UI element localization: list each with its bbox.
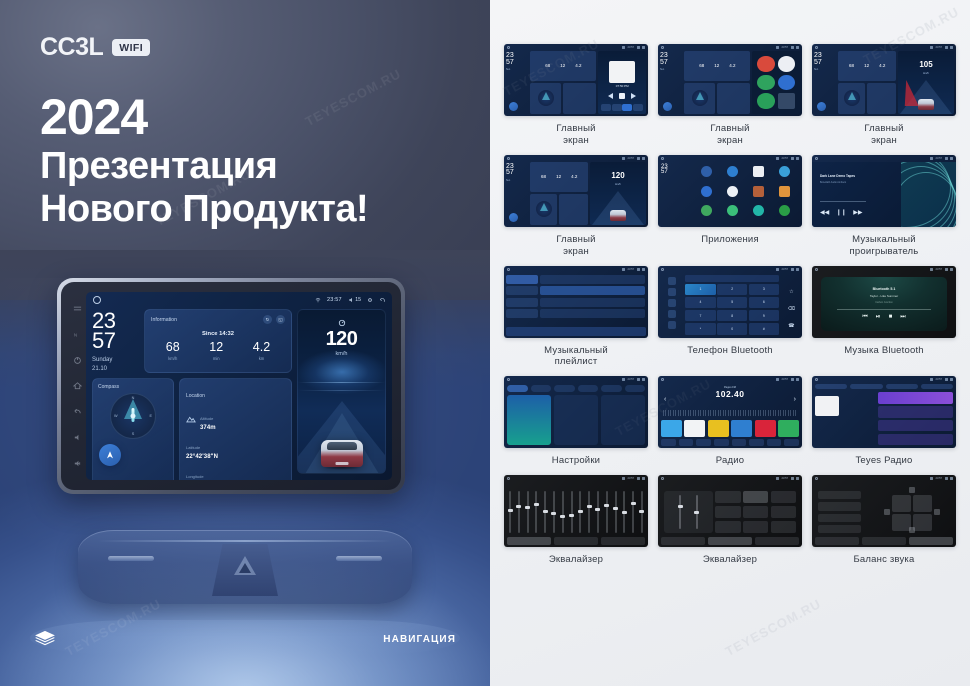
- car-plate: [335, 462, 348, 465]
- back-arrow-icon[interactable]: [379, 297, 385, 303]
- refresh-icon[interactable]: ↻: [263, 315, 272, 324]
- pause-icon[interactable]: ❙❙: [836, 209, 846, 216]
- longitude-label: Longitude: [186, 474, 204, 479]
- radio-tab[interactable]: [815, 384, 847, 389]
- screens-gallery: TEYESCOM.RU TEYESCOM.RU TEYESCOM.RU TEYE…: [490, 0, 970, 686]
- gear-icon[interactable]: [367, 297, 373, 303]
- next-icon[interactable]: ▶▶: [853, 209, 862, 216]
- gallery-caption: Настройки: [552, 455, 600, 467]
- compass-hub: [131, 413, 136, 418]
- phone-actions[interactable]: ☆ ⌫ ☎: [783, 284, 800, 335]
- latitude-value: 22°42'38"N: [186, 454, 285, 460]
- back-key-icon[interactable]: [73, 407, 82, 416]
- balance-option[interactable]: [818, 491, 861, 499]
- volume-up-key-icon[interactable]: [73, 459, 82, 468]
- speed-unit: km/h: [298, 351, 385, 357]
- gallery-caption: Телефон Bluetooth: [687, 345, 773, 357]
- app-icon[interactable]: [753, 166, 764, 177]
- information-card[interactable]: Information ↻ ◱ Since 14:32: [144, 309, 292, 373]
- gallery-caption: Музыка Bluetooth: [844, 345, 924, 357]
- gallery-item[interactable]: 23:57 Bluetooth 5.1 Taylor - Like Summer…: [812, 266, 956, 369]
- settings-tab[interactable]: [554, 385, 575, 392]
- teyes-radio-now-playing: [815, 392, 873, 445]
- head-unit-frame: N: [61, 282, 401, 490]
- compass-mark-s: S: [132, 432, 135, 436]
- head-unit-screen[interactable]: 23:57 15: [86, 292, 392, 480]
- caption-line-1: Главный: [556, 234, 595, 246]
- next-icon[interactable]: ⏭: [900, 314, 905, 321]
- gallery-caption: Главный экран: [556, 123, 595, 147]
- dial-key[interactable]: 6: [749, 297, 779, 309]
- gallery-item[interactable]: 23:57 Настр: [504, 376, 648, 467]
- hotspot-setting-card[interactable]: [554, 395, 598, 445]
- play-pause-icon[interactable]: ⏯: [876, 314, 881, 321]
- dashboard-vent: [78, 530, 412, 604]
- search-icon[interactable]: [668, 299, 676, 307]
- gallery-caption: Баланс звука: [854, 554, 915, 566]
- toolbar-key[interactable]: [784, 439, 799, 446]
- contacts-icon[interactable]: [668, 288, 676, 296]
- playlist-sidebar[interactable]: [506, 275, 538, 335]
- radio-presets[interactable]: [661, 420, 799, 437]
- dial-key[interactable]: 1: [685, 284, 715, 296]
- radio-tab[interactable]: [921, 384, 953, 389]
- album-art: [815, 396, 839, 416]
- volume-value: 15: [355, 297, 361, 303]
- gallery-item[interactable]: 23:57 2357Sun 68124.2 120 km/h: [504, 155, 648, 258]
- playlist-tab[interactable]: [506, 309, 538, 318]
- head-unit-bezel: N: [57, 278, 405, 494]
- app-icon[interactable]: [779, 205, 790, 216]
- stat-value: 68: [166, 341, 180, 354]
- preset-key[interactable]: [715, 491, 740, 503]
- app-icon[interactable]: [727, 166, 738, 177]
- toolbar-key[interactable]: [507, 537, 551, 545]
- balance-down-icon[interactable]: [909, 527, 915, 533]
- hardware-key-strip[interactable]: N: [69, 296, 85, 476]
- toolbar-key[interactable]: [708, 537, 752, 545]
- app-icon-grid[interactable]: [695, 164, 796, 219]
- gallery-caption: Главный экран: [556, 234, 595, 258]
- playlist-row[interactable]: [540, 298, 645, 307]
- radio-preset[interactable]: [684, 420, 705, 437]
- dial-key[interactable]: 5: [717, 297, 747, 309]
- car-window: [327, 442, 357, 450]
- prev-icon[interactable]: ⏮: [862, 314, 867, 321]
- thumbnail-home-speed[interactable]: 23:57 2357Sun 68124.2 105 km/h: [812, 44, 956, 116]
- preset-key[interactable]: [715, 506, 740, 518]
- menu-key-icon[interactable]: [73, 304, 82, 313]
- radio-tuning-scale[interactable]: [663, 410, 797, 416]
- eq-slider[interactable]: [588, 491, 590, 533]
- call-icon[interactable]: ☎: [788, 323, 794, 329]
- stat-duration: 12 min: [209, 341, 223, 361]
- settings-tab[interactable]: [578, 385, 599, 392]
- dial-key[interactable]: 8: [717, 310, 747, 322]
- stat-unit: min: [209, 356, 223, 361]
- speaker-quadrant[interactable]: [913, 495, 932, 512]
- navigation-label: НАВИГАЦИЯ: [383, 634, 456, 645]
- volume-icon: [348, 297, 354, 303]
- status-volume[interactable]: 15: [348, 297, 361, 303]
- toolbar-key[interactable]: [732, 439, 747, 446]
- vent-slot-left: [108, 556, 154, 561]
- thumbnail-music-player[interactable]: 23:57 Dark Lane Demo Tapes Bonefaith Aud…: [812, 155, 956, 227]
- album-art: [609, 61, 635, 83]
- dial-key[interactable]: 4: [685, 297, 715, 309]
- bt-progress-bar[interactable]: [837, 309, 930, 310]
- settings-tab[interactable]: [625, 385, 646, 392]
- music-visualizer: [901, 162, 956, 227]
- radio-preset[interactable]: [731, 420, 752, 437]
- eq-slider[interactable]: [606, 491, 608, 533]
- caption-line-1: Музыка Bluetooth: [844, 345, 924, 357]
- caption-line-1: Эквалайзер: [549, 554, 603, 566]
- information-title: Information: [151, 317, 177, 323]
- gallery-caption: Музыкальный проигрыватель: [850, 234, 919, 258]
- thumbnail-home-apps[interactable]: 23:57 2357Sun 68124.2: [658, 44, 802, 116]
- toolbar-key[interactable]: [862, 537, 906, 545]
- hazard-triangle-icon[interactable]: [234, 556, 256, 575]
- gallery-caption: Главный экран: [864, 123, 903, 147]
- toolbar-key[interactable]: [909, 537, 953, 545]
- eq-slider[interactable]: [518, 491, 520, 533]
- hero-footer: НАВИГАЦИЯ: [0, 608, 490, 686]
- since-label: Since 14:32: [151, 331, 285, 337]
- gallery-item[interactable]: 23:57 Радио FM 102.40 ‹ ›: [658, 376, 802, 467]
- wifi-icon: [315, 297, 321, 303]
- thumbnail-home-music[interactable]: 23:57 2357Sun 68124.2 07:50 PM: [504, 44, 648, 116]
- toolbar-key[interactable]: [767, 439, 782, 446]
- app-icon[interactable]: [779, 166, 790, 177]
- toolbar-key[interactable]: [679, 439, 694, 446]
- eq-slider[interactable]: [544, 491, 546, 533]
- settings-cards[interactable]: [507, 395, 645, 445]
- prev-icon[interactable]: ◀◀: [820, 209, 829, 216]
- station-row[interactable]: [878, 392, 953, 403]
- call-log-icon[interactable]: [668, 310, 676, 318]
- settings-icon[interactable]: [668, 321, 676, 329]
- speaker-quadrant[interactable]: [913, 514, 932, 531]
- app-icon[interactable]: [753, 186, 764, 197]
- app-icon[interactable]: [779, 186, 790, 197]
- radio-toolbar[interactable]: [661, 439, 799, 446]
- compass-title: Compass: [98, 384, 168, 390]
- settings-tab[interactable]: [507, 385, 528, 392]
- eq-slider[interactable]: [509, 491, 511, 533]
- playlist-player-bar[interactable]: [506, 327, 646, 336]
- stat-value: 4.2: [253, 341, 270, 354]
- gallery-caption: Музыкальный плейлист: [544, 345, 608, 369]
- radio-tab[interactable]: [886, 384, 918, 389]
- balance-up-icon[interactable]: [909, 487, 915, 493]
- bt-song-title: Taylor - Like Summer: [870, 294, 898, 298]
- preset-key[interactable]: [771, 491, 796, 503]
- music-artist: Bonefaith Audio Ambient: [820, 181, 846, 184]
- playlist-rows[interactable]: [540, 275, 645, 326]
- stat-distance: 4.2 km: [253, 341, 270, 361]
- gallery-item[interactable]: 23:57: [658, 475, 802, 566]
- dial-key[interactable]: *: [685, 323, 715, 335]
- caption-line-1: Баланс звука: [854, 554, 915, 566]
- radio-preset[interactable]: [755, 420, 776, 437]
- gallery-item[interactable]: 23:57 2357Sun 68124.2: [658, 44, 802, 147]
- thumbnail-bt-phone[interactable]: 23:57 123 456 789 *0#: [658, 266, 802, 338]
- gallery-item[interactable]: 23:57 Dark Lane Demo Tapes Bonefaith Aud…: [812, 155, 956, 258]
- radio-frequency: 102.40: [658, 389, 802, 399]
- home-key-icon[interactable]: [73, 381, 82, 390]
- eq-slider[interactable]: [535, 491, 537, 533]
- gallery-item[interactable]: 23:57 Музыкал: [504, 266, 648, 369]
- power-key-icon[interactable]: [73, 356, 82, 365]
- thumbnail-apps[interactable]: 23:57 2357: [658, 155, 802, 227]
- app-icon[interactable]: [701, 205, 712, 216]
- dial-key[interactable]: #: [749, 323, 779, 335]
- eq-slider[interactable]: [641, 491, 643, 533]
- toolbar-key[interactable]: [755, 537, 799, 545]
- thumbnail-bt-music[interactable]: 23:57 Bluetooth 5.1 Taylor - Like Summer…: [812, 266, 956, 338]
- gallery-caption: Приложения: [701, 234, 759, 246]
- balance-option[interactable]: [818, 525, 861, 533]
- equalizer-toolbar[interactable]: [661, 537, 799, 545]
- volume-down-key-icon[interactable]: [73, 433, 82, 442]
- gallery-caption: Главный экран: [710, 123, 749, 147]
- svg-text:N: N: [73, 332, 76, 337]
- caption-line-1: Главный: [556, 123, 595, 135]
- navigation-panel[interactable]: 120 km/h: [297, 309, 386, 474]
- caption-line-1: Телефон Bluetooth: [687, 345, 773, 357]
- balance-toolbar[interactable]: [815, 537, 953, 545]
- compass-mark-e: E: [149, 414, 152, 418]
- eq-slider[interactable]: [553, 491, 555, 533]
- navigation-arrow-icon[interactable]: [99, 444, 121, 466]
- hero-panel: TEYESCOM.RU TEYESCOM.RU TEYESCOM.RU CC3L…: [0, 0, 490, 686]
- caption-line-1: Настройки: [552, 455, 600, 467]
- preset-key[interactable]: [743, 506, 768, 518]
- caption-line-2: экран: [710, 135, 749, 147]
- clock-weekday: Sunday: [92, 356, 138, 364]
- clock-date: 21.10: [92, 365, 138, 373]
- preset-key[interactable]: [743, 491, 768, 503]
- thumb-music-time: 07:50 PM: [598, 84, 646, 88]
- thumbnail-teyes-radio[interactable]: 23:57: [812, 376, 956, 448]
- altitude-value: 374m: [200, 425, 216, 431]
- thumbnail-equalizer-presets[interactable]: 23:57: [658, 475, 802, 547]
- thumbnail-radio[interactable]: 23:57 Радио FM 102.40 ‹ ›: [658, 376, 802, 448]
- stat-unit: km/h: [166, 356, 180, 361]
- bt-artist: Carbon Junction: [875, 301, 892, 304]
- preset-key[interactable]: [743, 521, 768, 533]
- balance-right-icon[interactable]: [934, 509, 940, 515]
- phone-number-field[interactable]: [685, 275, 779, 282]
- caption-line-2: проигрыватель: [850, 246, 919, 258]
- road-horizon-line: [298, 382, 385, 383]
- teyes-radio-stations[interactable]: [878, 392, 953, 445]
- app-icon[interactable]: [727, 186, 738, 197]
- vent-highlight: [98, 540, 392, 542]
- radio-preset[interactable]: [661, 420, 682, 437]
- status-bar: 23:57 15: [86, 292, 392, 307]
- toolbar-key[interactable]: [749, 439, 764, 446]
- radio-preset[interactable]: [708, 420, 729, 437]
- balance-option[interactable]: [818, 514, 861, 522]
- location-title: Location: [186, 393, 205, 399]
- caption-line-2: экран: [864, 135, 903, 147]
- settings-tab[interactable]: [601, 385, 622, 392]
- nav-key-icon[interactable]: N: [73, 330, 82, 339]
- settings-tabs[interactable]: [507, 385, 645, 392]
- speaker-quadrant[interactable]: [892, 495, 911, 512]
- teyes-radio-tabs[interactable]: [815, 384, 953, 389]
- stat-avg-speed: 68 km/h: [166, 341, 180, 361]
- equalizer-toolbar[interactable]: [507, 537, 645, 545]
- toolbar-key[interactable]: [661, 439, 676, 446]
- speed-value: 120: [298, 329, 385, 349]
- phone-sidebar[interactable]: [660, 275, 683, 335]
- bass-treble-sliders[interactable]: [664, 491, 713, 533]
- caption-line-1: Teyes Радио: [855, 455, 912, 467]
- toolbar-key[interactable]: [815, 537, 859, 545]
- page-title: 2024 Презентация Нового Продукта!: [40, 92, 368, 230]
- radio-tab[interactable]: [850, 384, 882, 389]
- dialpad[interactable]: 123 456 789 *0#: [685, 284, 779, 335]
- eq-slider[interactable]: [597, 491, 599, 533]
- watermark: TEYESCOM.RU: [723, 596, 824, 659]
- toolbar-key[interactable]: [696, 439, 711, 446]
- thumbnail-home-nav[interactable]: 23:57 2357Sun 68124.2 120 km/h: [504, 155, 648, 227]
- status-clock: 23:57: [327, 297, 342, 303]
- app-icon[interactable]: [701, 186, 712, 197]
- eq-slider[interactable]: [696, 495, 698, 529]
- caption-line-1: Музыкальный: [544, 345, 608, 357]
- toolbar-key[interactable]: [661, 537, 705, 545]
- gallery-item[interactable]: 23:57 Teyes Рад: [812, 376, 956, 467]
- thumbnail-settings[interactable]: 23:57: [504, 376, 648, 448]
- thumbnail-equalizer-bars[interactable]: 23:57: [504, 475, 648, 547]
- preset-key[interactable]: [715, 521, 740, 533]
- station-row[interactable]: [878, 434, 953, 445]
- home-screen-body: 23 57 Sunday 21.10 Information: [92, 309, 386, 474]
- gallery-caption: Эквалайзер: [549, 554, 603, 566]
- toolbar-key[interactable]: [601, 537, 645, 545]
- eq-slider[interactable]: [579, 491, 581, 533]
- gallery-item[interactable]: 23:57 2357Sun 68124.2 105 km/h: [812, 44, 956, 147]
- favorite-icon[interactable]: ☆: [789, 289, 793, 295]
- eq-slider[interactable]: [623, 491, 625, 533]
- playlist-row[interactable]: [540, 286, 645, 295]
- station-row[interactable]: [878, 420, 953, 431]
- station-row[interactable]: [878, 406, 953, 417]
- compass-mark-w: W: [114, 414, 118, 418]
- preset-key[interactable]: [771, 521, 796, 533]
- layers-icon: [34, 630, 56, 648]
- eq-slider[interactable]: [679, 495, 681, 529]
- dial-key[interactable]: 9: [749, 310, 779, 322]
- clock-widget[interactable]: 23 57 Sunday 21.10: [92, 309, 138, 373]
- thumbnail-sound-balance[interactable]: 23:57: [812, 475, 956, 547]
- thumbnail-playlist[interactable]: 23:57: [504, 266, 648, 338]
- headline-year: 2024: [40, 92, 368, 143]
- next-station-icon[interactable]: ›: [794, 396, 796, 403]
- home-icon[interactable]: [93, 296, 101, 304]
- dial-key[interactable]: 2: [717, 284, 747, 296]
- dial-key[interactable]: 0: [717, 323, 747, 335]
- gallery-caption: Teyes Радио: [855, 455, 912, 467]
- preset-key[interactable]: [771, 506, 796, 518]
- gallery-item[interactable]: 23:57: [504, 475, 648, 566]
- balance-options[interactable]: [818, 491, 861, 533]
- expand-icon[interactable]: ◱: [276, 315, 285, 324]
- preset-grid[interactable]: [715, 491, 796, 533]
- compass-dial: N E S W: [110, 393, 156, 439]
- eq-slider[interactable]: [632, 491, 634, 533]
- playlist-tab[interactable]: [506, 298, 538, 307]
- clock-minutes: 57: [92, 331, 138, 351]
- gallery-item[interactable]: 23:57: [812, 475, 956, 566]
- gallery-grid: 23:57 2357Sun 68124.2 07:50 PM: [504, 44, 956, 566]
- mountain-icon: [186, 415, 196, 423]
- location-card[interactable]: Location Altitude 374m: [179, 378, 292, 480]
- dial-key[interactable]: 7: [685, 310, 715, 322]
- backspace-icon[interactable]: ⌫: [788, 306, 795, 312]
- app-icon[interactable]: [701, 166, 712, 177]
- wifi-badge: WIFI: [112, 39, 150, 56]
- thumb-clock-minutes: 57: [506, 60, 528, 67]
- toolbar-key[interactable]: [554, 537, 598, 545]
- stop-icon[interactable]: ■: [889, 314, 893, 321]
- dial-key[interactable]: 3: [749, 284, 779, 296]
- settings-tab[interactable]: [531, 385, 552, 392]
- playlist-row[interactable]: [540, 275, 645, 284]
- compass-mark-n: N: [132, 396, 135, 400]
- radio-preset[interactable]: [778, 420, 799, 437]
- eq-slider[interactable]: [571, 491, 573, 533]
- caption-line-2: экран: [556, 135, 595, 147]
- vent-slot-right: [336, 556, 382, 561]
- balance-pad[interactable]: [892, 495, 932, 531]
- playlist-tab[interactable]: [506, 286, 538, 295]
- balance-left-icon[interactable]: [884, 509, 890, 515]
- eq-slider[interactable]: [562, 491, 564, 533]
- toolbar-key[interactable]: [714, 439, 729, 446]
- gallery-caption: Радио: [716, 455, 744, 467]
- more-setting-card[interactable]: [601, 395, 645, 445]
- headline-line-1: Презентация: [40, 145, 368, 188]
- equalizer-sliders[interactable]: [509, 491, 643, 533]
- gallery-item[interactable]: 23:57 2357Sun 68124.2 07:50 PM: [504, 44, 648, 147]
- app-icon[interactable]: [727, 205, 738, 216]
- thumb-speed-value: 120: [590, 171, 646, 180]
- caption-line-1: Приложения: [701, 234, 759, 246]
- eq-slider[interactable]: [615, 491, 617, 533]
- dialpad-icon[interactable]: [668, 277, 676, 285]
- gallery-item[interactable]: 23:57 2357: [658, 155, 802, 258]
- progress-bar[interactable]: [820, 201, 866, 202]
- gallery-item[interactable]: 23:57 123 456 789 *0#: [658, 266, 802, 369]
- caption-line-1: Эквалайзер: [703, 554, 757, 566]
- playlist-tab[interactable]: [506, 275, 538, 284]
- altitude-label: Altitude: [200, 416, 213, 421]
- app-icon[interactable]: [753, 205, 764, 216]
- balance-option[interactable]: [818, 502, 861, 510]
- eq-slider[interactable]: [527, 491, 529, 533]
- thumb-speed-value: 105: [898, 60, 954, 69]
- car-3d-model: [321, 440, 363, 467]
- playlist-row[interactable]: [540, 309, 645, 318]
- prev-station-icon[interactable]: ‹: [664, 396, 666, 403]
- caption-line-2: плейлист: [544, 356, 608, 368]
- wifi-setting-card[interactable]: [507, 395, 551, 445]
